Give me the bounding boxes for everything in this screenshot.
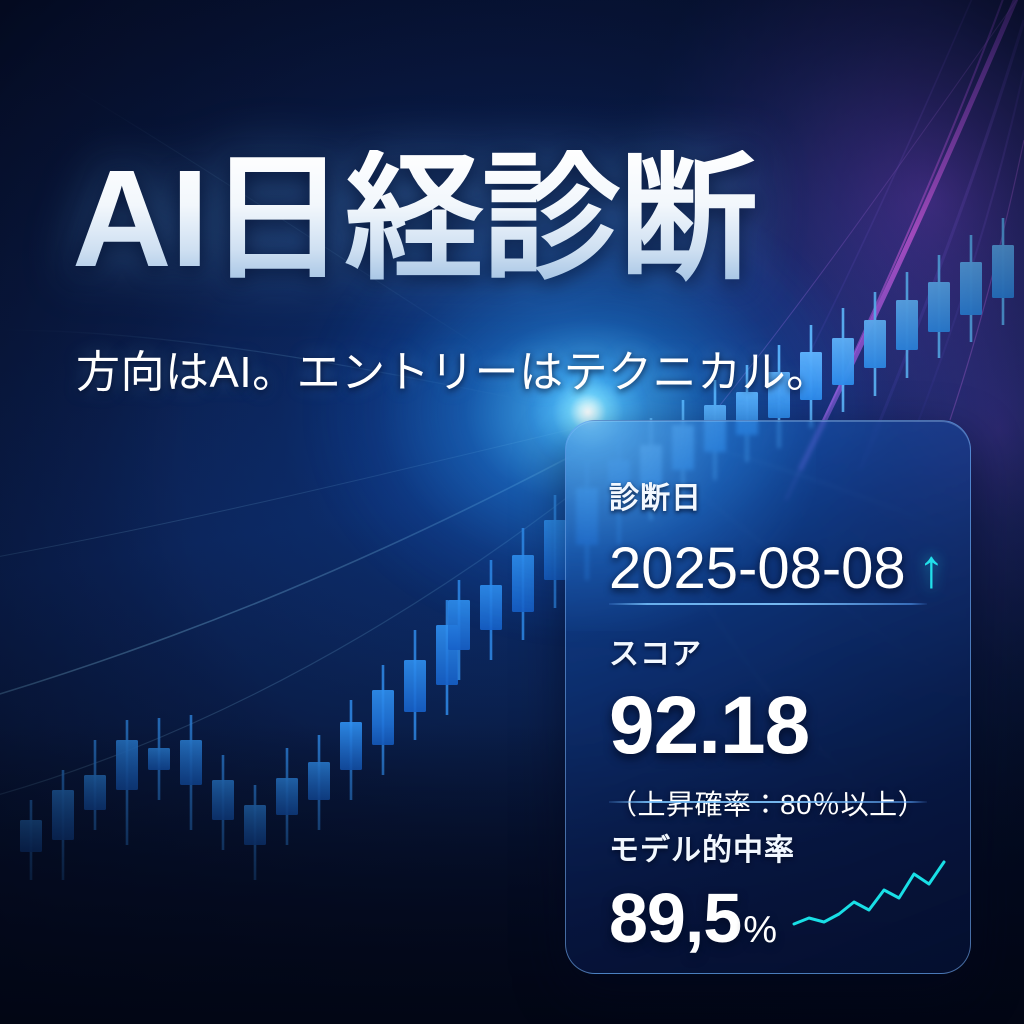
date-value-row: 2025-08-08 ↑ [609,535,945,602]
accuracy-label: モデル的中率 [609,825,795,869]
accuracy-unit: % [743,909,777,952]
score-section: スコア 92.18 （上昇確率：80％以上） [609,629,926,823]
card-content: 診断日 2025-08-08 ↑ スコア 92.18 （上昇確率：80％以上） … [566,421,970,973]
trend-up-icon: ↑ [918,542,945,596]
accuracy-sparkline-chart [788,856,948,936]
page-subtitle: 方向はAI。エントリーはテクニカル。 [76,336,831,400]
score-label: スコア [609,629,926,673]
accuracy-section: モデル的中率 89,5 % [609,825,795,953]
date-value: 2025-08-08 [609,535,906,602]
poster-canvas: AI日経診断 方向はAI。エントリーはテクニカル。 診断日 2025-08-08… [0,0,1024,1024]
page-title: AI日経診断 [72,150,756,288]
date-section: 診断日 2025-08-08 ↑ [609,473,945,602]
accuracy-value-row: 89,5 % [609,883,795,953]
accuracy-value: 89,5 [609,883,741,953]
divider-1 [609,603,927,605]
diagnosis-card: 診断日 2025-08-08 ↑ スコア 92.18 （上昇確率：80％以上） … [565,420,971,974]
date-label: 診断日 [609,473,945,517]
score-value: 92.18 [609,685,926,767]
divider-2 [609,801,927,803]
score-note: （上昇確率：80％以上） [609,783,926,823]
